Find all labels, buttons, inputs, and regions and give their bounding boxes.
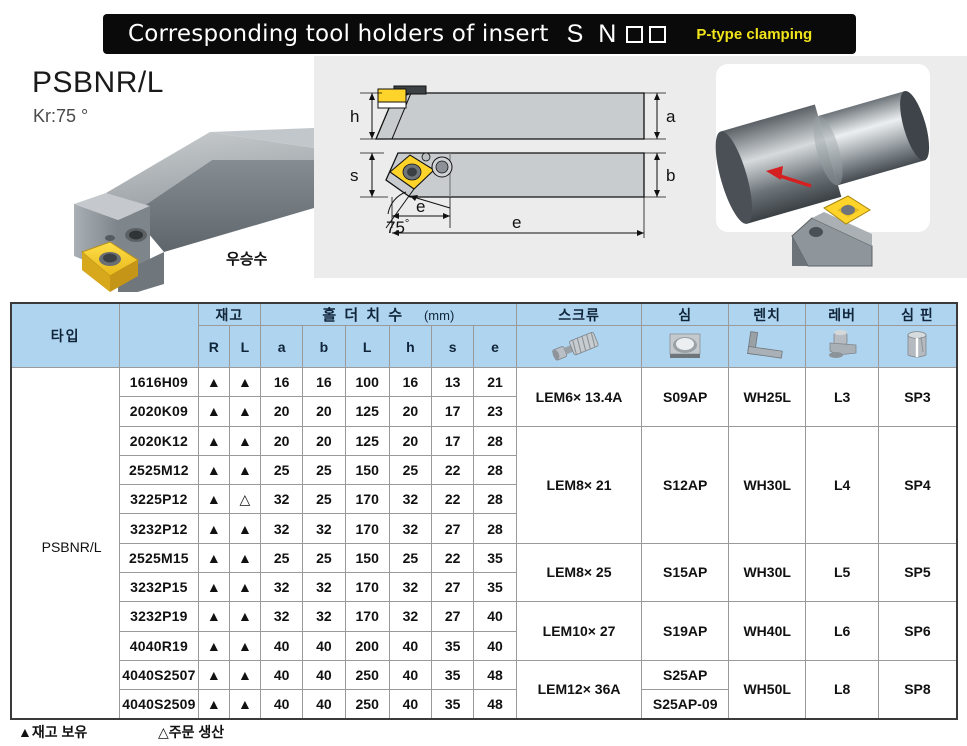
cell-holder-code: 3225P12 <box>120 485 198 514</box>
cell-shim: S12AP <box>642 426 729 543</box>
cell-dim-b: 25 <box>303 485 345 514</box>
holder-dimension-drawing: h a <box>314 56 688 278</box>
cell-holder-code: 4040S2509 <box>120 690 198 719</box>
cell-shim: S09AP <box>642 368 729 427</box>
cell-dim-b: 20 <box>303 426 345 455</box>
col-header-dim-e: e <box>474 326 516 368</box>
col-header-screw: 스크류 <box>516 303 642 326</box>
table-row: 4040S2507▲▲4040250403548LEM12× 36AS25APW… <box>11 660 957 689</box>
cell-dim-h: 40 <box>389 660 431 689</box>
col-header-stock-r: R <box>198 326 229 368</box>
col-header-stock: 재고 <box>198 303 260 326</box>
cell-dim-e: 48 <box>474 660 516 689</box>
cell-dim-e: 40 <box>474 602 516 631</box>
col-header-dimensions: 홀 더 치 수 (mm) <box>261 303 517 326</box>
application-illustration-panel <box>688 56 967 278</box>
cell-holder-code: 2525M12 <box>120 455 198 484</box>
cell-dim-b: 40 <box>303 690 345 719</box>
turning-application-render <box>688 56 967 278</box>
col-header-code <box>120 303 198 368</box>
cell-dim-h: 40 <box>389 631 431 660</box>
cell-dim-a: 32 <box>261 602 303 631</box>
cell-stock-r: ▲ <box>198 514 229 543</box>
cell-stock-r: ▲ <box>198 485 229 514</box>
cell-lever: L3 <box>806 368 878 427</box>
cell-dim-e: 23 <box>474 397 516 426</box>
table-row: 3232P19▲▲3232170322740LEM10× 27S19APWH40… <box>11 602 957 631</box>
cell-stock-l: ▲ <box>229 631 260 660</box>
cell-screw: LEM8× 21 <box>516 426 642 543</box>
cell-dim-b: 40 <box>303 631 345 660</box>
cell-dim-L: 150 <box>345 455 389 484</box>
dim-label-e-long: e <box>512 213 521 232</box>
cell-dim-b: 32 <box>303 572 345 601</box>
cell-dim-L: 250 <box>345 660 389 689</box>
cell-dim-b: 20 <box>303 397 345 426</box>
cell-shim: S25AP-09 <box>642 690 729 719</box>
cell-stock-r: ▲ <box>198 397 229 426</box>
cell-stock-r: ▲ <box>198 426 229 455</box>
cell-wrench: WH50L <box>728 660 805 719</box>
table-row: PSBNR/L1616H09▲▲1616100161321LEM6× 13.4A… <box>11 368 957 397</box>
cell-stock-l: ▲ <box>229 514 260 543</box>
cell-lever: L6 <box>806 602 878 661</box>
table-body: PSBNR/L1616H09▲▲1616100161321LEM6× 13.4A… <box>11 368 957 720</box>
cell-dim-h: 20 <box>389 397 431 426</box>
cell-wrench: WH30L <box>728 543 805 602</box>
cell-dim-h: 40 <box>389 690 431 719</box>
cell-dim-b: 16 <box>303 368 345 397</box>
cell-dim-s: 35 <box>432 631 474 660</box>
cell-stock-l: ▲ <box>229 543 260 572</box>
legend-in-stock: ▲재고 보유 <box>18 722 87 742</box>
table-header-row-1: 타입 재고 홀 더 치 수 (mm) 스크류 심 렌치 레버 심 핀 <box>11 303 957 326</box>
cell-stock-l: ▲ <box>229 397 260 426</box>
cell-stock-r: ▲ <box>198 690 229 719</box>
cell-holder-code: 1616H09 <box>120 368 198 397</box>
type-name-cell: PSBNR/L <box>11 368 120 720</box>
cell-wrench: WH25L <box>728 368 805 427</box>
col-header-dim-b: b <box>303 326 345 368</box>
cell-dim-a: 20 <box>261 426 303 455</box>
specification-table-wrapper: 타입 재고 홀 더 치 수 (mm) 스크류 심 렌치 레버 심 핀 R L <box>10 302 958 720</box>
cell-holder-code: 3232P15 <box>120 572 198 601</box>
cell-dim-e: 48 <box>474 690 516 719</box>
dimension-drawing-panel: h a <box>314 56 688 278</box>
cell-holder-code: 3232P19 <box>120 602 198 631</box>
cell-dim-e: 28 <box>474 455 516 484</box>
cell-dim-e: 28 <box>474 485 516 514</box>
cell-dim-b: 25 <box>303 543 345 572</box>
cell-dim-a: 16 <box>261 368 303 397</box>
wrench-icon <box>728 326 805 368</box>
cell-shim: S19AP <box>642 602 729 661</box>
cell-stock-r: ▲ <box>198 368 229 397</box>
cell-stock-l: ▲ <box>229 368 260 397</box>
col-header-dim-a: a <box>261 326 303 368</box>
cell-dim-h: 32 <box>389 485 431 514</box>
lever-icon <box>806 326 878 368</box>
cell-stock-r: ▲ <box>198 602 229 631</box>
cell-dim-s: 27 <box>432 602 474 631</box>
clamping-type-label: P-type clamping <box>696 26 812 43</box>
cell-dim-L: 250 <box>345 690 389 719</box>
cell-shim: S15AP <box>642 543 729 602</box>
cell-stock-l: ▲ <box>229 572 260 601</box>
insert-code-prefix: S N <box>567 20 621 49</box>
cell-dim-L: 170 <box>345 485 389 514</box>
cell-dim-L: 150 <box>345 543 389 572</box>
dims-label: 홀 더 치 수 <box>322 307 404 324</box>
legend-made-to-order: △주문 생산 <box>158 722 224 742</box>
col-header-stock-l: L <box>229 326 260 368</box>
cell-dim-s: 27 <box>432 572 474 601</box>
cell-dim-s: 22 <box>432 485 474 514</box>
cell-dim-a: 32 <box>261 514 303 543</box>
cell-dim-a: 40 <box>261 660 303 689</box>
col-header-shim: 심 <box>642 303 729 326</box>
cell-dim-b: 32 <box>303 602 345 631</box>
dim-label-a: a <box>666 107 676 126</box>
cell-dim-a: 40 <box>261 631 303 660</box>
col-header-dim-h: h <box>389 326 431 368</box>
dim-label-s: s <box>350 166 359 185</box>
cell-dim-e: 21 <box>474 368 516 397</box>
cell-dim-e: 40 <box>474 631 516 660</box>
banner-title: Corresponding tool holders of insert <box>128 21 549 47</box>
cell-dim-h: 32 <box>389 572 431 601</box>
cell-dim-s: 35 <box>432 690 474 719</box>
cell-dim-h: 16 <box>389 368 431 397</box>
cell-stock-r: ▲ <box>198 572 229 601</box>
insert-code: S N <box>567 20 667 49</box>
cell-shim-pin: SP6 <box>878 602 957 661</box>
cell-dim-h: 25 <box>389 543 431 572</box>
cell-dim-h: 20 <box>389 426 431 455</box>
shim-icon <box>642 326 729 368</box>
cell-wrench: WH30L <box>728 426 805 543</box>
cell-dim-L: 170 <box>345 514 389 543</box>
dim-label-h: h <box>350 107 359 126</box>
dim-label-e-short: e <box>416 197 425 216</box>
cell-stock-l: △ <box>229 485 260 514</box>
cell-dim-s: 35 <box>432 660 474 689</box>
cell-stock-l: ▲ <box>229 426 260 455</box>
product-photo-panel: PSBNR/L Kr:75 ° 우승수 <box>14 56 314 292</box>
cell-holder-code: 2525M15 <box>120 543 198 572</box>
table-row: 2525M15▲▲2525150252235LEM8× 25S15APWH30L… <box>11 543 957 572</box>
cell-stock-r: ▲ <box>198 543 229 572</box>
cell-dim-a: 25 <box>261 543 303 572</box>
cell-dim-h: 32 <box>389 514 431 543</box>
cell-screw: LEM10× 27 <box>516 602 642 661</box>
cell-lever: L5 <box>806 543 878 602</box>
cell-lever: L4 <box>806 426 878 543</box>
dim-label-b: b <box>666 166 675 185</box>
cell-dim-b: 32 <box>303 514 345 543</box>
col-header-type: 타입 <box>11 303 120 368</box>
col-header-shim-pin: 심 핀 <box>878 303 957 326</box>
cell-dim-b: 25 <box>303 455 345 484</box>
cell-dim-e: 28 <box>474 514 516 543</box>
cell-dim-e: 35 <box>474 572 516 601</box>
catalog-page: Corresponding tool holders of insert S N… <box>0 0 967 746</box>
cell-stock-r: ▲ <box>198 660 229 689</box>
cell-dim-L: 125 <box>345 397 389 426</box>
legend-footer: ▲재고 보유 △주문 생산 <box>18 722 958 744</box>
specification-table: 타입 재고 홀 더 치 수 (mm) 스크류 심 렌치 레버 심 핀 R L <box>10 302 958 720</box>
cell-dim-e: 35 <box>474 543 516 572</box>
col-header-wrench: 렌치 <box>728 303 805 326</box>
header-banner-area: Corresponding tool holders of insert S N… <box>0 0 967 60</box>
cell-screw: LEM12× 36A <box>516 660 642 719</box>
cell-stock-l: ▲ <box>229 690 260 719</box>
dims-unit: (mm) <box>424 308 454 323</box>
cell-dim-s: 13 <box>432 368 474 397</box>
cell-lever: L8 <box>806 660 878 719</box>
cell-stock-l: ▲ <box>229 660 260 689</box>
cell-shim-pin: SP4 <box>878 426 957 543</box>
cell-dim-s: 17 <box>432 426 474 455</box>
cell-dim-b: 40 <box>303 660 345 689</box>
cell-dim-L: 170 <box>345 572 389 601</box>
shim-pin-icon <box>878 326 957 368</box>
cell-dim-s: 22 <box>432 455 474 484</box>
cell-dim-L: 125 <box>345 426 389 455</box>
cell-shim-pin: SP3 <box>878 368 957 427</box>
cell-dim-L: 170 <box>345 602 389 631</box>
cell-dim-h: 25 <box>389 455 431 484</box>
cell-stock-r: ▲ <box>198 455 229 484</box>
cell-dim-s: 17 <box>432 397 474 426</box>
cell-holder-code: 4040R19 <box>120 631 198 660</box>
cell-holder-code: 2020K12 <box>120 426 198 455</box>
screw-icon <box>516 326 642 368</box>
cell-dim-L: 200 <box>345 631 389 660</box>
cell-stock-l: ▲ <box>229 602 260 631</box>
cell-dim-s: 22 <box>432 543 474 572</box>
cell-dim-s: 27 <box>432 514 474 543</box>
cell-dim-a: 40 <box>261 690 303 719</box>
cell-shim-pin: SP8 <box>878 660 957 719</box>
cell-screw: LEM6× 13.4A <box>516 368 642 427</box>
cell-holder-code: 3232P12 <box>120 514 198 543</box>
col-header-dim-L: L <box>345 326 389 368</box>
cell-stock-l: ▲ <box>229 455 260 484</box>
header-banner: Corresponding tool holders of insert S N… <box>103 14 856 54</box>
insert-code-box-1 <box>626 26 643 43</box>
cell-holder-code: 2020K09 <box>120 397 198 426</box>
tool-holder-3d-render <box>14 56 314 292</box>
cell-dim-a: 25 <box>261 455 303 484</box>
cell-dim-a: 20 <box>261 397 303 426</box>
cell-holder-code: 4040S2507 <box>120 660 198 689</box>
insert-code-box-2 <box>649 26 666 43</box>
cell-screw: LEM8× 25 <box>516 543 642 602</box>
cell-wrench: WH40L <box>728 602 805 661</box>
cell-shim-pin: SP5 <box>878 543 957 602</box>
cell-dim-a: 32 <box>261 485 303 514</box>
cell-dim-h: 32 <box>389 602 431 631</box>
cell-stock-r: ▲ <box>198 631 229 660</box>
col-header-dim-s: s <box>432 326 474 368</box>
illustration-panels: PSBNR/L Kr:75 ° 우승수 <box>0 56 967 292</box>
cell-dim-a: 32 <box>261 572 303 601</box>
table-row: 2020K12▲▲2020125201728LEM8× 21S12APWH30L… <box>11 426 957 455</box>
cell-dim-e: 28 <box>474 426 516 455</box>
cell-dim-L: 100 <box>345 368 389 397</box>
col-header-lever: 레버 <box>806 303 878 326</box>
cell-shim: S25AP <box>642 660 729 689</box>
